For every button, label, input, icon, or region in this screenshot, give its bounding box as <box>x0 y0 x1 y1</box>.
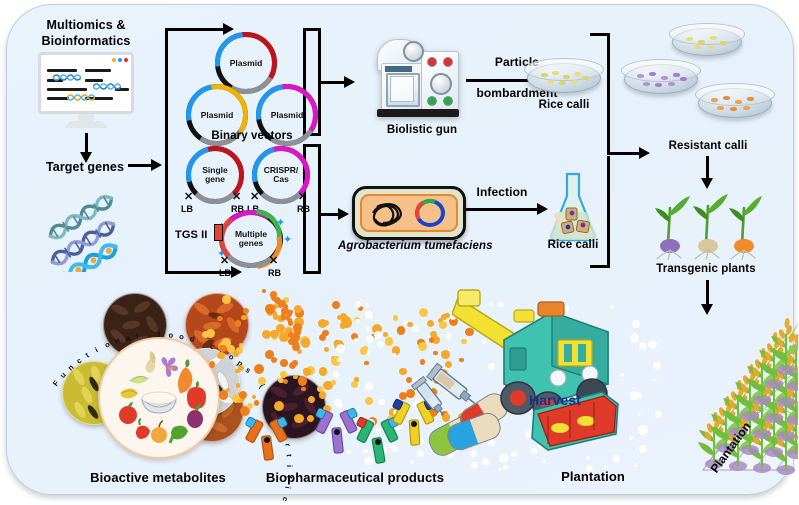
food-wheel-caption: Functional food crops (Biofortification) <box>84 322 232 470</box>
wheel-caption-char: l <box>135 332 139 341</box>
arrow-resistant-to-plants-head <box>701 178 713 189</box>
insert-marker-icon: ✦ <box>283 235 292 246</box>
tgs-label: TGS II <box>175 229 207 242</box>
wheel-caption-char: n <box>114 336 121 346</box>
transgenic-plants-label: Transgenic plants <box>637 263 775 276</box>
harvest-label: Harvest <box>529 392 581 408</box>
combine-harvester-icon <box>452 288 652 460</box>
binary-collector-bottom <box>303 271 321 274</box>
wheel-caption-char: r <box>218 346 225 355</box>
arrow-monitor-to-genes <box>85 133 88 153</box>
rice-calli-label-top: Rice calli <box>526 99 602 112</box>
seedling-icon <box>648 192 764 260</box>
multiple-genes-rb: RB <box>268 268 281 278</box>
merge-vline-top <box>607 33 610 155</box>
rice-calli-label-bottom: Rice calli <box>533 239 613 252</box>
arrow-genes-to-vectors <box>128 164 152 167</box>
biopharmaceutical-products-label: Biopharmaceutical products <box>255 471 455 486</box>
merge-hline-top <box>590 33 610 36</box>
merge-vline-bottom <box>607 156 610 268</box>
syringe-icon <box>408 372 452 424</box>
crispr-rb: RB <box>297 204 310 214</box>
petri-dish-resistant-2 <box>624 64 698 94</box>
vector-box-left <box>165 28 168 274</box>
binary-vectors-label: Binary vectors <box>186 130 318 143</box>
wheel-caption-char: a <box>125 333 131 343</box>
dna-squiggle-icon <box>67 93 95 102</box>
resistant-calli-label: Resistant calli <box>648 140 768 153</box>
wheel-caption-char <box>199 337 204 346</box>
multiomics-title-line2: Bioinformatics <box>24 34 148 48</box>
multiple-genes-label-2: genes <box>239 239 264 248</box>
vector-box-top <box>165 28 227 31</box>
chromosome-icon <box>367 199 407 227</box>
erlenmeyer-flask-icon <box>544 172 602 242</box>
wheel-caption-char <box>147 330 150 339</box>
wheel-caption-char: c <box>209 341 216 351</box>
wheel-caption-char: d <box>189 334 196 344</box>
biolistic-gun-label: Biolistic gun <box>367 124 477 137</box>
wheel-caption-char: c <box>280 496 290 502</box>
multiomics-title-line1: Multiomics & <box>24 18 148 32</box>
dna-helix-icon <box>36 172 154 272</box>
wheel-caption-char: f <box>158 330 161 339</box>
bacterium-cell-icon <box>352 186 466 240</box>
merge-hline-bottom <box>590 265 610 268</box>
ti-plasmid-icon <box>415 199 445 227</box>
bioactive-metabolites-label: Bioactive metabolites <box>48 471 268 486</box>
arrow-resistant-to-plants <box>706 156 709 180</box>
single-gene-label-2: gene <box>205 175 225 184</box>
multiple-genes-lb: LB <box>219 268 231 278</box>
insert-marker-icon: ✦ <box>276 218 285 229</box>
crispr-label-2: Cas <box>273 175 289 184</box>
tgs-marker <box>214 224 223 241</box>
petri-dish-rice-calli-top <box>527 63 601 93</box>
window-dots <box>112 58 128 62</box>
antibody-icon <box>242 414 292 464</box>
wheel-caption-char: o <box>168 330 173 339</box>
dna-squiggle-icon <box>93 82 121 91</box>
computer-monitor-icon <box>38 52 134 130</box>
arrow-plasmid-to-gun-head <box>344 76 355 88</box>
arrow-to-resistant <box>607 152 641 155</box>
wheel-caption-char: o <box>179 332 185 342</box>
plantation-label: Plantation <box>533 470 653 485</box>
petri-dish-resistant-3 <box>698 88 772 118</box>
arrow-binary-to-agro-head <box>338 208 349 220</box>
wheel-caption-char: i <box>93 345 99 354</box>
biolistic-gun-icon <box>377 33 465 121</box>
arrow-binary-to-agro <box>318 213 340 216</box>
arrow-genes-to-vectors-head <box>151 159 162 171</box>
figure-canvas: Multiomics & Bioinformatics <box>0 0 799 505</box>
wheel-caption-char: o <box>103 340 111 350</box>
arrow-plants-to-outputs <box>706 280 709 306</box>
arrow-infection <box>466 208 538 211</box>
wheel-caption-char: t <box>84 351 91 360</box>
dna-squiggle-icon <box>53 73 81 82</box>
arrow-plasmid-to-gun <box>318 81 346 84</box>
infection-label: Infection <box>462 186 542 200</box>
arrow-plants-to-outputs-head <box>701 304 713 315</box>
wheel-caption-char: i <box>285 465 294 467</box>
single-gene-lb: LB <box>181 204 193 214</box>
agrobacterium-label: Agrobacterium tumefaciens <box>338 240 493 253</box>
petri-dish-resistant-1 <box>672 28 742 56</box>
